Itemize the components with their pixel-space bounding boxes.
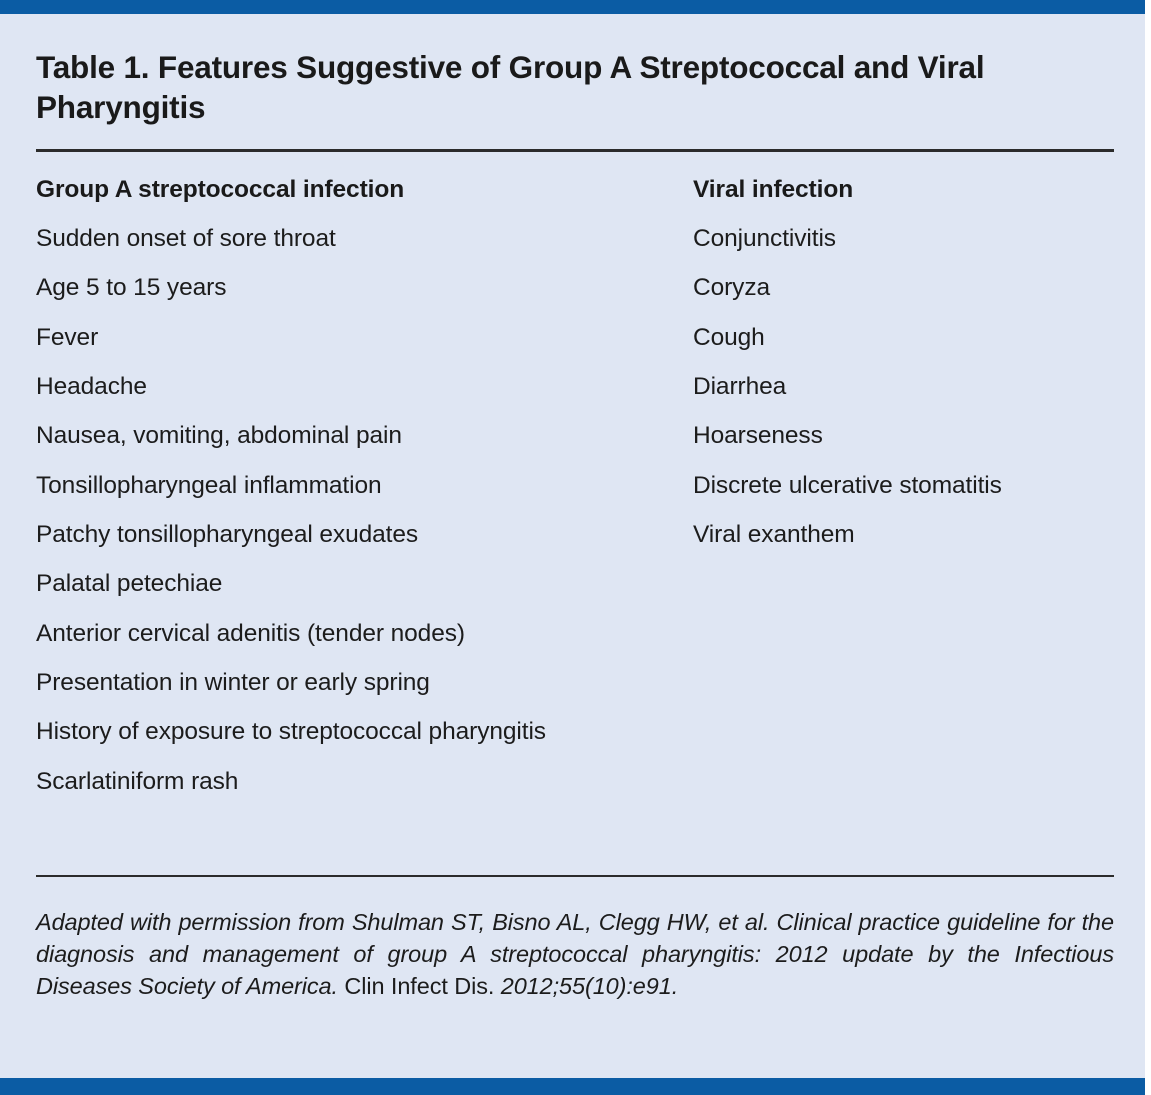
list-item: Tonsillopharyngeal inflammation	[36, 471, 693, 502]
list-group-a-strep: Sudden onset of sore throat Age 5 to 15 …	[36, 224, 693, 798]
list-item: Nausea, vomiting, abdominal pain	[36, 421, 693, 452]
list-item: Presentation in winter or early spring	[36, 668, 693, 699]
list-item: Conjunctivitis	[693, 224, 1109, 255]
list-viral: Conjunctivitis Coryza Cough Diarrhea Hoa…	[693, 224, 1109, 551]
footnote-divider	[36, 875, 1114, 877]
list-item: Discrete ulcerative stomatitis	[693, 471, 1109, 502]
list-item: Age 5 to 15 years	[36, 273, 693, 304]
list-item: Anterior cervical adenitis (tender nodes…	[36, 619, 693, 650]
column-header-group-a-strep: Group A streptococcal infection	[36, 178, 693, 203]
footnote: Adapted with permission from Shulman ST,…	[36, 907, 1114, 1003]
column-viral: Viral infection Conjunctivitis Coryza Co…	[693, 178, 1109, 816]
list-item: Cough	[693, 323, 1109, 354]
column-header-viral: Viral infection	[693, 178, 1109, 203]
list-item: Diarrhea	[693, 372, 1109, 403]
list-item: Hoarseness	[693, 421, 1109, 452]
top-brand-bar	[0, 0, 1145, 14]
list-item: Coryza	[693, 273, 1109, 304]
footnote-journal: Clin Infect Dis.	[344, 973, 494, 999]
list-item: Headache	[36, 372, 693, 403]
bottom-brand-bar	[0, 1078, 1145, 1095]
list-item: History of exposure to streptococcal pha…	[36, 717, 560, 748]
list-item: Viral exanthem	[693, 520, 1109, 551]
list-item: Patchy tonsillopharyngeal exudates	[36, 520, 693, 551]
table-figure: Table 1. Features Suggestive of Group A …	[0, 0, 1151, 1095]
list-item: Sudden onset of sore throat	[36, 224, 693, 255]
page-title: Table 1. Features Suggestive of Group A …	[36, 14, 1076, 127]
table-panel: Table 1. Features Suggestive of Group A …	[0, 14, 1145, 1078]
table-columns: Group A streptococcal infection Sudden o…	[36, 178, 1109, 816]
header-divider	[36, 149, 1114, 152]
list-item: Fever	[36, 323, 693, 354]
list-item: Scarlatiniform rash	[36, 767, 693, 798]
list-item: Palatal petechiae	[36, 569, 693, 600]
column-group-a-strep: Group A streptococcal infection Sudden o…	[36, 178, 693, 816]
footnote-citation: 2012;55(10):e91.	[501, 973, 678, 999]
